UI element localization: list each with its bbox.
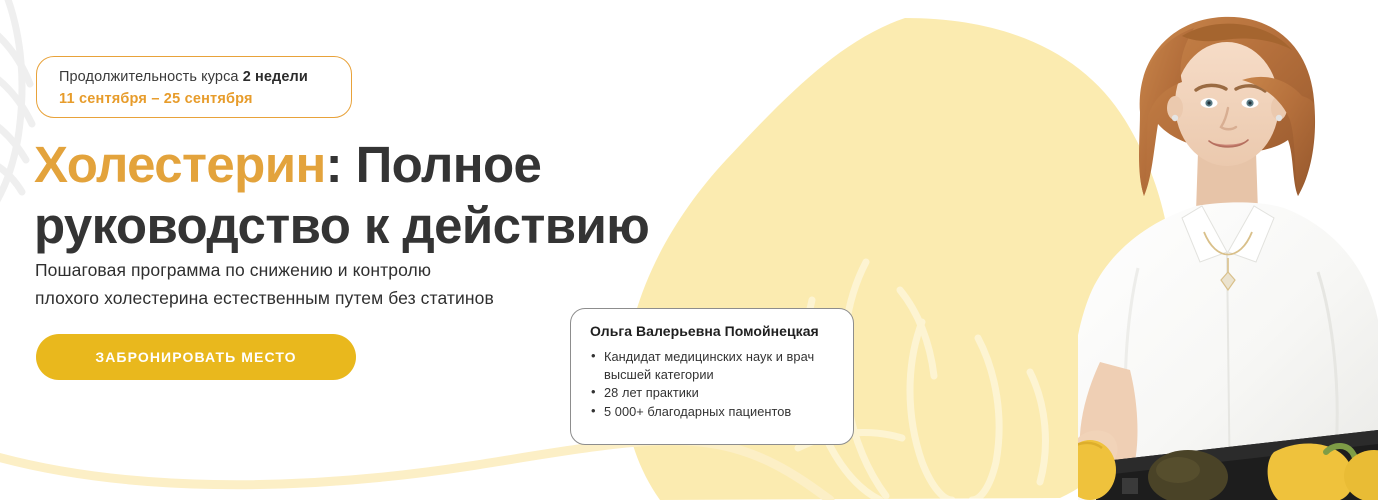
date-range: 11 сентября – 25 сентября xyxy=(59,89,351,109)
subtitle-line-1: Пошаговая программа по снижению и контро… xyxy=(35,260,431,280)
list-item: 28 лет практики xyxy=(590,384,837,402)
speaker-photo xyxy=(1078,0,1378,500)
duration-value: 2 недели xyxy=(243,69,308,85)
corner-leaf-icon xyxy=(0,0,32,214)
hero-banner: Продолжительность курса 2 недели 11 сент… xyxy=(0,0,1378,500)
book-seat-button[interactable]: ЗАБРОНИРОВАТЬ МЕСТО xyxy=(36,334,356,380)
bottom-wave-decoration xyxy=(0,441,830,500)
speaker-name: Ольга Валерьевна Помойнецкая xyxy=(590,322,837,341)
page-title: Холестерин: Полное руководство к действи… xyxy=(34,134,649,256)
duration-label: Продолжительность курса xyxy=(59,69,243,85)
speaker-info-card: Ольга Валерьевна Помойнецкая Кандидат ме… xyxy=(570,308,854,445)
list-item: 5 000+ благодарных пациентов xyxy=(590,403,837,421)
duration-line: Продолжительность курса 2 недели xyxy=(59,67,351,87)
speaker-credentials-list: Кандидат медицинских наук и врач высшей … xyxy=(590,348,837,420)
course-duration-badge: Продолжительность курса 2 недели 11 сент… xyxy=(36,56,352,118)
page-subtitle: Пошаговая программа по снижению и контро… xyxy=(35,256,494,312)
title-line2: руководство к действию xyxy=(34,197,649,254)
earring xyxy=(1172,115,1178,121)
title-accent: Холестерин xyxy=(34,136,326,193)
list-item: Кандидат медицинских наук и врач высшей … xyxy=(590,348,837,383)
title-rest: : Полное xyxy=(326,136,542,193)
subtitle-line-2: плохого холестерина естественным путем б… xyxy=(35,288,494,308)
